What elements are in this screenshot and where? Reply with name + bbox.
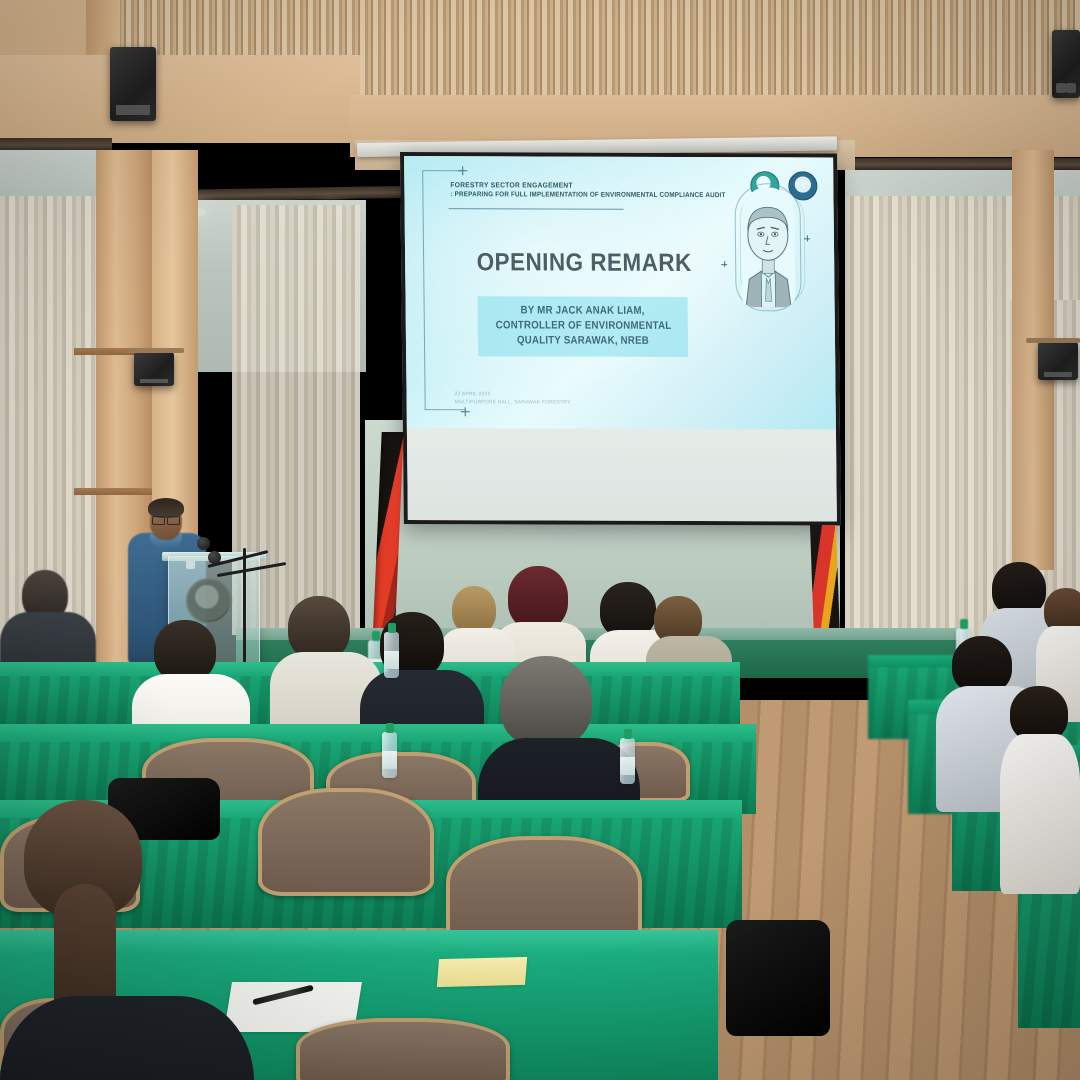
microphone-pole: [243, 548, 246, 668]
bottle-label: [382, 751, 397, 768]
speaker-bracket-right: [1026, 338, 1080, 343]
presentation-slide: FORESTRY SECTOR ENGAGEMENT : PREPARING F…: [404, 156, 836, 429]
head: [508, 566, 568, 630]
slide-tick-top: [458, 166, 467, 175]
portrait-tick-right: [804, 235, 810, 241]
slide-subtitle-line-2: CONTROLLER OF ENVIRONMENTAL: [496, 318, 670, 333]
bottle-label: [384, 651, 399, 668]
microphone-head-2: [208, 551, 221, 564]
slide-subtitle-line-3: QUALITY SARAWAK, NREB: [496, 333, 670, 348]
flag-right: [810, 525, 840, 640]
slide-footnote: 22 APRIL 2025 MULTIPURPOSE HALL, SARAWAK…: [455, 391, 615, 407]
slide-subtitle-box: BY MR JACK ANAK LIAM, CONTROLLER OF ENVI…: [478, 296, 689, 356]
wall-speaker-right: [1038, 342, 1078, 380]
wall-speaker-top-right: [1052, 30, 1080, 98]
microphone-head-1: [197, 537, 210, 550]
presenter-hair: [148, 498, 184, 518]
podium-emblem: [186, 578, 232, 624]
slide-header-line-1: FORESTRY SECTOR ENGAGEMENT: [450, 180, 699, 190]
screen-blank-area: [407, 427, 837, 521]
speaker-bracket-left: [126, 348, 184, 353]
chair-foreground-1[interactable]: [296, 1018, 510, 1080]
conference-hall-scene: FORESTRY SECTOR ENGAGEMENT : PREPARING F…: [0, 0, 1080, 1080]
slide-footnote-line-2: MULTIPURPOSE HALL, SARAWAK FORESTRY: [455, 399, 615, 407]
chair-back: [296, 1018, 510, 1080]
speaker-portrait: [734, 183, 801, 311]
body: [1000, 734, 1080, 894]
water-bottle-mid-1: [384, 632, 399, 678]
slide-corner-frame: [422, 170, 465, 410]
body: [0, 996, 254, 1080]
head: [288, 596, 350, 660]
portrait-illustration: [734, 183, 801, 311]
wall-speaker-left: [134, 352, 174, 386]
slide-title: OPENING REMARK: [472, 248, 697, 278]
presenter-glasses: [152, 516, 180, 523]
backpack-on-floor: [726, 920, 830, 1036]
table-row-3-top: [0, 724, 756, 744]
wall-speaker-top-left: [110, 47, 156, 121]
water-bottle-row3-2: [620, 738, 635, 784]
slide-header-underline: [449, 208, 624, 210]
chair-back: [258, 788, 434, 896]
slide-tick-bottom: [461, 407, 470, 416]
bottle-label: [620, 757, 635, 774]
chair-row4-2[interactable]: [258, 788, 434, 896]
yellow-note-card: [437, 957, 527, 987]
head: [154, 620, 216, 682]
slide-subtitle-line-1: BY MR JACK ANAK LIAM,: [495, 303, 669, 318]
slide-header: FORESTRY SECTOR ENGAGEMENT : PREPARING F…: [450, 180, 720, 199]
projection-screen: FORESTRY SECTOR ENGAGEMENT : PREPARING F…: [400, 152, 841, 526]
slide-header-line-2: : PREPARING FOR FULL IMPLEMENTATION OF E…: [450, 191, 693, 199]
head: [500, 656, 592, 748]
portrait-tick-left: [721, 261, 727, 267]
water-bottle-row3-1: [382, 732, 397, 778]
head: [452, 586, 496, 634]
upper-wall-band: [0, 55, 360, 143]
